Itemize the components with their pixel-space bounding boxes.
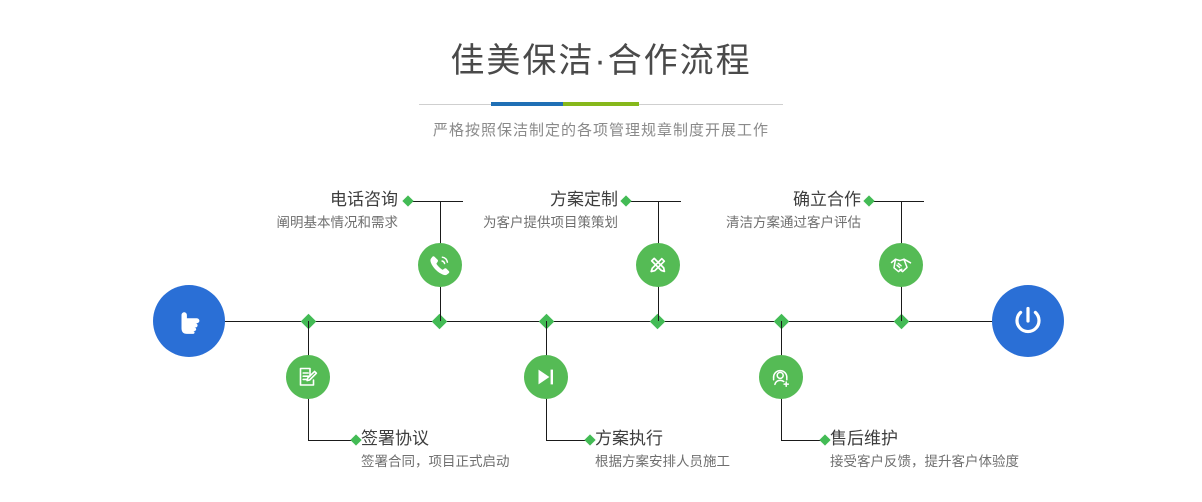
phone-call-icon [427,252,453,278]
play-forward-icon [533,364,559,390]
connector-line [546,440,590,441]
step-desc: 接受客户反馈，提升客户体验度 [830,452,1150,472]
step-node-sign[interactable] [286,355,330,399]
sign-document-icon [295,364,321,390]
connector-line [308,440,356,441]
label-bullet [350,434,361,445]
step-node-execute[interactable] [524,355,568,399]
pencil-edit-icon [645,252,671,278]
divider-segment-green [563,102,639,106]
start-endpoint[interactable] [153,285,225,357]
step-desc: 为客户提供项目策策划 [348,213,618,233]
step-title: 售后维护 [830,428,1150,450]
label-bullet [863,195,874,206]
step-node-cooperation[interactable] [879,243,923,287]
step-label-bottom-3: 售后维护 接受客户反馈，提升客户体验度 [830,428,1150,472]
page-title: 佳美保洁·合作流程 [0,44,1202,78]
step-label-top-2: 方案定制 为客户提供项目策策划 [348,189,618,233]
step-title: 方案定制 [348,189,618,211]
divider-segment-blue [491,102,563,106]
step-label-top-3: 确立合作 清洁方案通过客户评估 [591,189,861,233]
handshake-icon [888,252,914,278]
connector-line [872,201,924,202]
step-node-plan[interactable] [636,243,680,287]
flowchart-canvas: 佳美保洁·合作流程 严格按照保洁制定的各项管理规章制度开展工作 [0,0,1202,502]
step-node-phone[interactable] [418,243,462,287]
power-icon [1007,300,1049,342]
page-subtitle: 严格按照保洁制定的各项管理规章制度开展工作 [0,119,1202,140]
step-title: 确立合作 [591,189,861,211]
header: 佳美保洁·合作流程 严格按照保洁制定的各项管理规章制度开展工作 [0,0,1202,140]
end-endpoint[interactable] [992,285,1064,357]
step-node-support[interactable] [759,355,803,399]
step-desc: 清洁方案通过客户评估 [591,213,861,233]
connector-line [781,440,825,441]
pointing-hand-icon [169,301,209,341]
title-divider [419,102,783,106]
customer-support-add-icon [768,364,794,390]
